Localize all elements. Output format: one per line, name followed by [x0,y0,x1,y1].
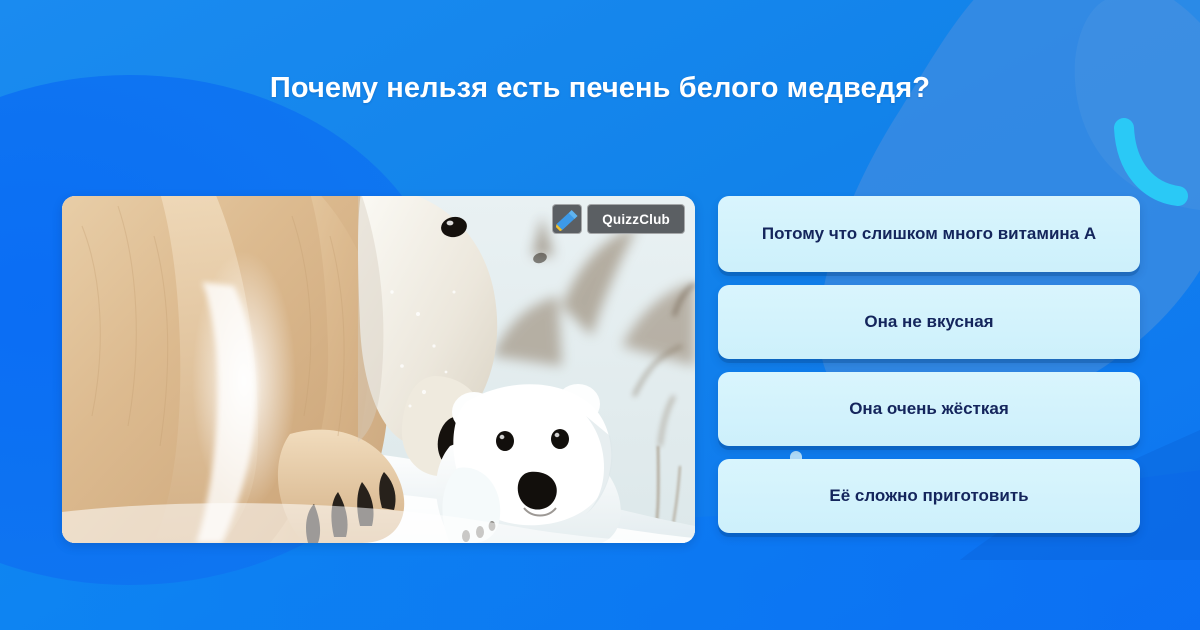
watermark: QuizzClub [552,204,685,234]
answer-option-b[interactable]: Она не вкусная [718,285,1140,359]
answer-option-d[interactable]: Её сложно приготовить [718,459,1140,533]
answer-option-b-label: Она не вкусная [864,311,993,334]
watermark-brand: QuizzClub [587,204,685,234]
graduation-cap-icon [552,204,582,234]
answer-option-c[interactable]: Она очень жёсткая [718,372,1140,446]
answer-option-a-label: Потому что слишком много витамина А [762,223,1096,246]
question-title: Почему нельзя есть печень белого медведя… [0,72,1200,105]
answer-options-list: Потому что слишком много витамина А Она … [718,196,1140,533]
polar-bear-photo [62,196,695,543]
answer-option-a[interactable]: Потому что слишком много витамина А [718,196,1140,272]
answer-option-c-label: Она очень жёсткая [849,398,1009,421]
answer-option-d-label: Её сложно приготовить [829,485,1028,508]
question-image-card: QuizzClub [62,196,695,543]
